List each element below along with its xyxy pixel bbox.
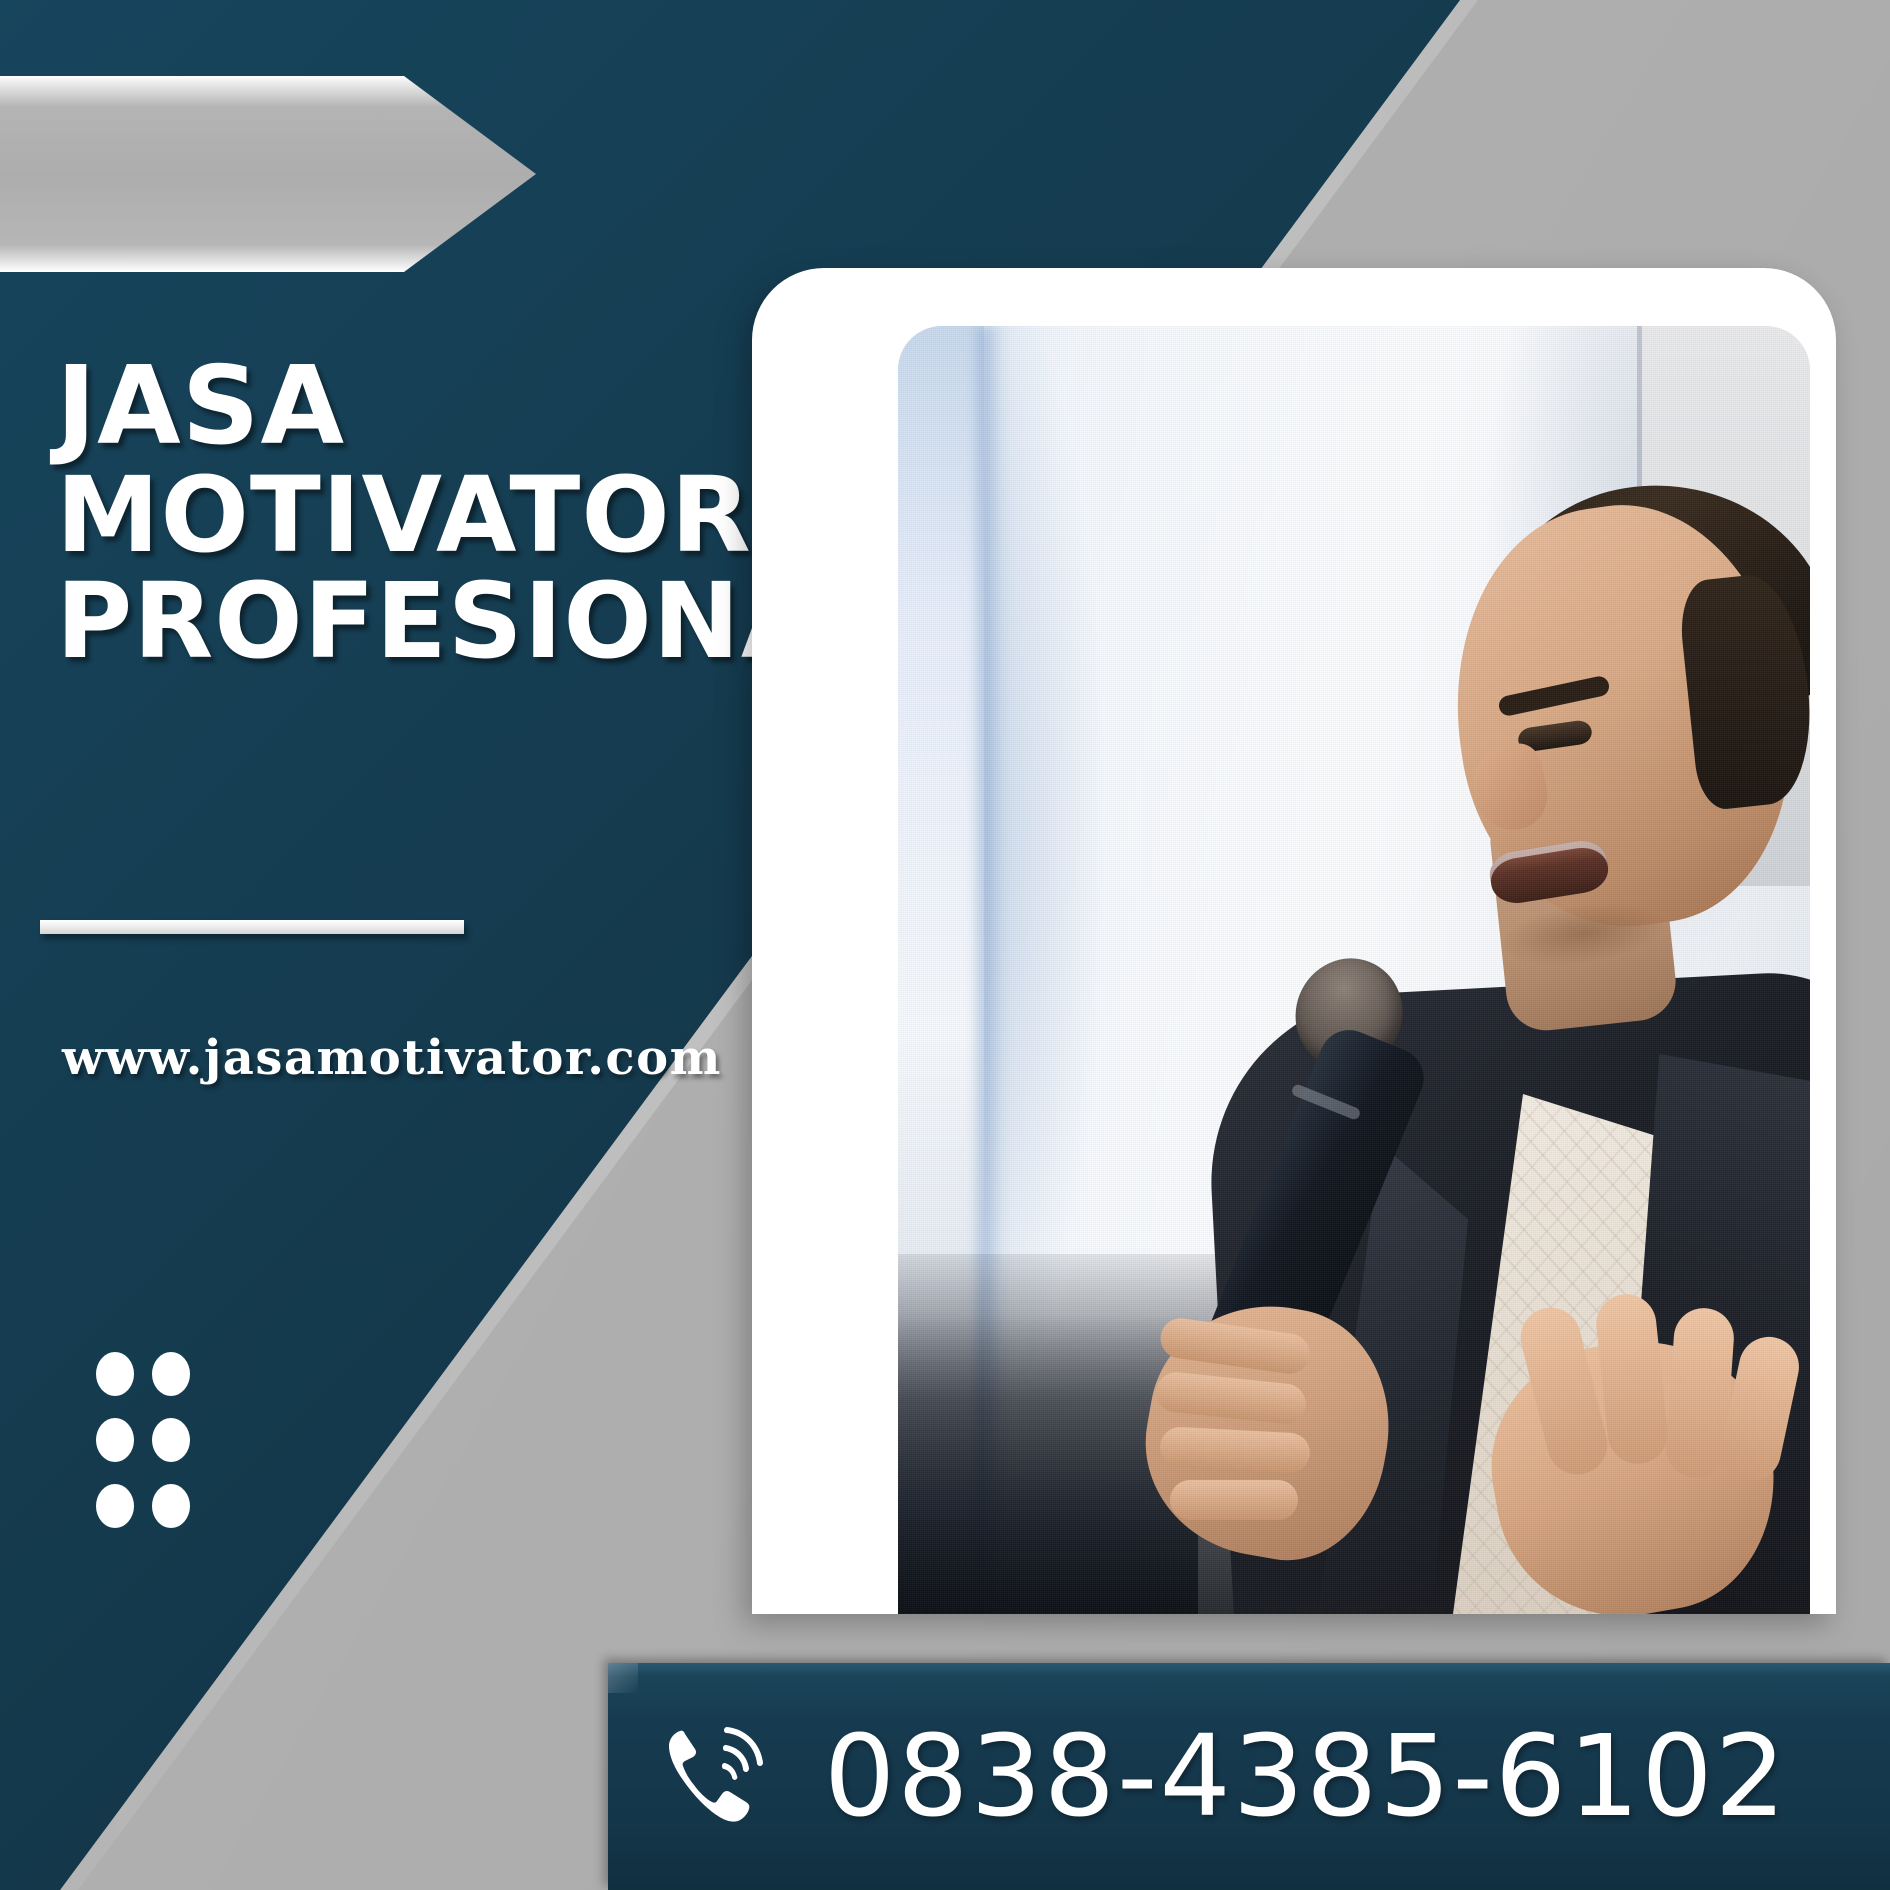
- dot-icon: [152, 1484, 190, 1528]
- dot-icon: [96, 1418, 134, 1462]
- phone-ringing-icon: [658, 1717, 778, 1837]
- divider-rule: [40, 920, 464, 934]
- speaker-photo: [898, 326, 1810, 1614]
- subject-finger: [1159, 1426, 1311, 1474]
- dot-icon: [152, 1352, 190, 1396]
- photo-card: [752, 268, 1836, 1614]
- subject-finger: [1170, 1480, 1298, 1520]
- dot-grid-decoration: [96, 1352, 208, 1550]
- photo-subject: [898, 326, 1810, 1614]
- poster-canvas: JASA MOTIVATOR PROFESIONAL www.jasamotiv…: [0, 0, 1890, 1890]
- contact-banner[interactable]: 0838-4385-6102: [608, 1663, 1890, 1890]
- dot-icon: [96, 1352, 134, 1396]
- dot-icon: [96, 1484, 134, 1528]
- dot-icon: [152, 1418, 190, 1462]
- phone-number: 0838-4385-6102: [824, 1721, 1788, 1833]
- website-url[interactable]: www.jasamotivator.com: [62, 1030, 722, 1086]
